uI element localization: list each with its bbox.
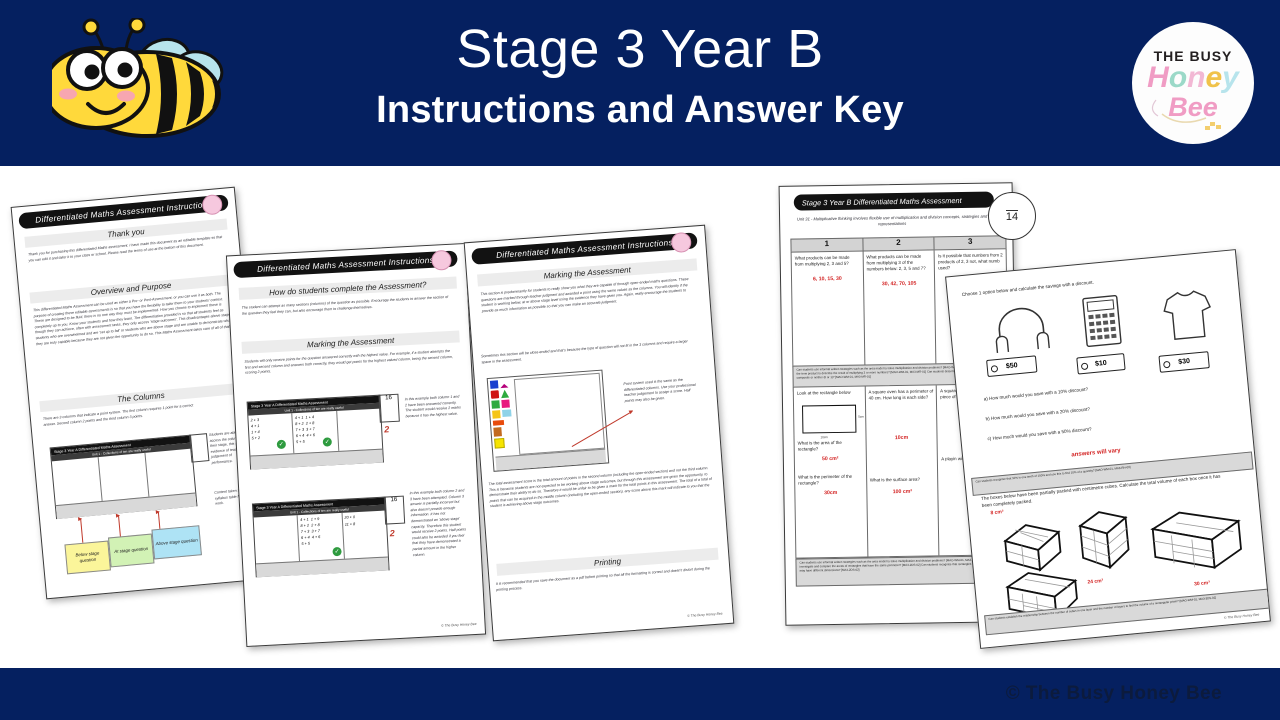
example-table-b: Stage 3 Year A Differentiated Maths Asse… <box>252 497 390 578</box>
table-col-1: 2 + 34 + 11 + 45 + 2 <box>248 413 294 455</box>
question-surface-area: What is the surface area? <box>870 476 935 483</box>
footer-copyright: © The Busy Honey Bee <box>1006 683 1222 705</box>
table-col-1 <box>52 457 103 505</box>
sticky-note-below-stage: Below stage question <box>64 541 111 575</box>
arrow-1-icon <box>80 519 83 543</box>
calculator-icon <box>1081 293 1124 348</box>
table-score-box: 16 <box>378 394 399 423</box>
answer-discount: answers will vary <box>1071 448 1121 459</box>
volume-answer-3: 30 cm³ <box>1194 580 1210 587</box>
question-cell-1: What products can be made from multiplyi… <box>792 252 865 367</box>
answer-side: 10cm <box>869 434 934 441</box>
rectangle-figure <box>802 405 856 434</box>
question-cell-2: A square oven has a perimeter of 40 cm. … <box>865 385 939 556</box>
instructions-header: Differentiated Maths Assessment Instruct… <box>233 250 458 278</box>
shape-square-pink-icon <box>501 399 510 408</box>
volume-box-2-icon <box>1073 505 1137 576</box>
tshirt-icon <box>1160 287 1215 343</box>
rect-width-label: 10cm <box>820 435 827 439</box>
shape-arrow-orange-icon <box>493 420 504 426</box>
shape-triangle-green-icon <box>501 390 510 399</box>
mark-value-a: 2 <box>384 424 390 434</box>
table-col-1 <box>254 515 301 563</box>
page-copyright: © The Busy Honey Bee <box>1224 613 1260 620</box>
question-text: Is it possible that numbers from 2 produ… <box>938 252 1003 271</box>
answer-area: 50 cm² <box>798 456 863 463</box>
page-copyright: © The Busy Honey Bee <box>441 622 477 628</box>
shape-lshape-brown-icon <box>493 427 502 437</box>
answer-space <box>514 373 605 455</box>
table-score-box: 16 <box>384 496 405 525</box>
question-text: What products can be made from multiplyi… <box>795 255 860 268</box>
instructions-page-2[interactable]: Differentiated Maths Assessment Instruct… <box>226 243 486 647</box>
price-tag-tshirt: $30 <box>1158 351 1209 373</box>
shape-square-yellow-icon <box>492 410 501 419</box>
question-text: What products can be made from multiplyi… <box>866 253 931 272</box>
sticky-note-at-stage: At stage question <box>108 534 155 568</box>
shape-square-blue-icon <box>490 380 499 389</box>
question-cell-1: Look at the rectangle below 5cm 10cm Wha… <box>794 387 868 558</box>
logo-badge-icon <box>431 250 452 271</box>
assessment-unit: Unit 31 - Multiplicative thinking involv… <box>792 214 992 229</box>
sub-question-area: What is the area of the rectangle? <box>798 440 863 453</box>
slide-canvas: Stage 3 Year B Instructions and Answer K… <box>0 0 1280 720</box>
the-busy-honey-bee-logo: THE BUSY Honey Bee <box>1132 22 1254 144</box>
sub-question-perimeter: What is the perimeter of the rectangle? <box>798 474 863 487</box>
table-col-3: 20 + 011 + 8 <box>342 511 388 559</box>
open-ended-example-box <box>487 370 610 472</box>
headphones-icon <box>991 302 1051 353</box>
page-number: 14 <box>1006 210 1018 223</box>
page-title: Stage 3 Year B <box>0 20 1280 78</box>
instructions-page-1[interactable]: Differentiated Maths Assessment Instruct… <box>11 187 271 600</box>
table-col-2: 4 + 1 1 + 48 + 2 2 + 87 + 3 3 + 76 + 4 4… <box>293 411 339 453</box>
volume-answer-2: 24 cm³ <box>1087 578 1103 585</box>
example-table-a: Stage 3 Year A Differentiated Maths Asse… <box>247 395 384 470</box>
assessment-title: Stage 3 Year B Differentiated Maths Asse… <box>794 191 994 210</box>
volume-answer-1: 8 cm³ <box>990 509 1004 516</box>
question-text: A square oven has a perimeter of 40 cm. … <box>868 388 933 401</box>
table-marks-box <box>189 433 209 463</box>
example-assessment-table: Stage 3 Year A Differentiated Maths Asse… <box>50 435 198 520</box>
annotation-example-2: In this example both column 2 and 3 have… <box>409 488 468 558</box>
rect-height-label: 5cm <box>858 415 864 419</box>
score-value: 16 <box>385 395 392 401</box>
price-tag-calculator: $10 <box>1076 353 1125 374</box>
answer-key-page-2[interactable]: Choose 1 option below and calculate the … <box>945 249 1271 649</box>
note-total-score: The total assessment score is the total … <box>488 466 713 510</box>
shape-trapezoid-icon <box>502 409 511 417</box>
score-value: 16 <box>390 497 397 503</box>
page-number-badge: 14 <box>988 192 1036 240</box>
note-point-system: Point system used is the same as the dif… <box>623 377 698 405</box>
top-banner: Stage 3 Year B Instructions and Answer K… <box>0 0 1280 166</box>
page-subtitle: Instructions and Answer Key <box>0 88 1280 132</box>
shape-diamond-purple-icon <box>500 380 509 389</box>
section-body-marking: Students will only receive points for th… <box>244 349 457 377</box>
answer-text: 30, 42, 70, 105 <box>867 280 932 287</box>
question-cell-2: What products can be made from multiplyi… <box>863 250 936 365</box>
instructions-page-3[interactable]: Differentiated Maths Assessment Instruct… <box>464 225 735 642</box>
table-col-2 <box>99 453 150 501</box>
mark-value-b: 2 <box>389 528 395 538</box>
logo-flourish-icon <box>1132 22 1254 144</box>
logo-badge-icon <box>671 232 692 253</box>
answer-perimeter: 30cm <box>798 490 863 497</box>
note-open-ended: Sometimes this section will be close-end… <box>481 339 695 366</box>
answer-surface-area: 100 cm² <box>870 488 935 495</box>
table-col-3 <box>145 449 195 497</box>
volume-box-3-icon <box>1145 503 1249 584</box>
question-text: Look at the rectangle below <box>797 390 862 397</box>
annotation-example-1: In this example both column 1 and 2 have… <box>405 394 462 419</box>
shape-square-green-icon <box>491 400 500 409</box>
price-tag-headphones: $50 <box>986 355 1037 377</box>
shape-square-gold-icon <box>494 438 505 449</box>
table-col-3 <box>337 409 382 451</box>
shape-square-red-icon <box>491 390 500 399</box>
page-copyright: © The Busy Honey Bee <box>687 611 723 618</box>
answer-text: 6, 10, 15, 30 <box>795 276 860 283</box>
sticky-note-above-stage: Above stage question <box>151 525 202 559</box>
